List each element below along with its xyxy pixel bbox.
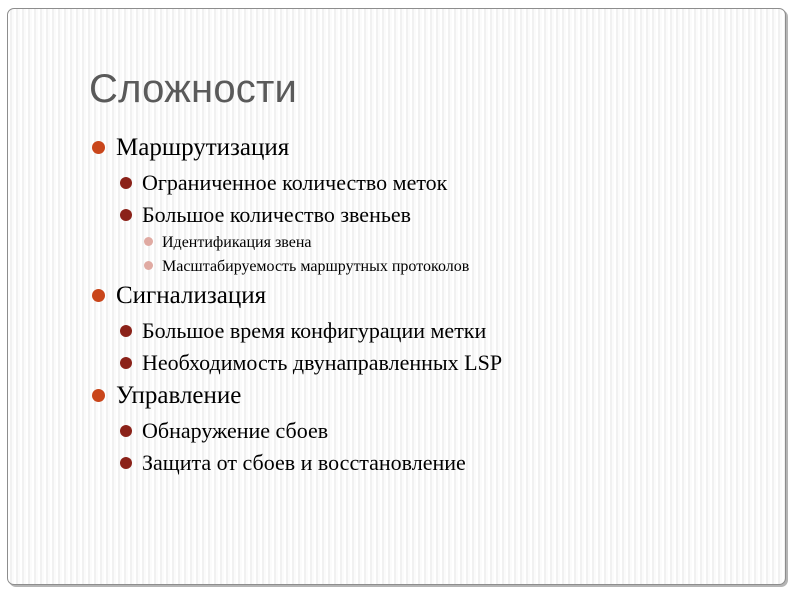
bullet-dot-icon (144, 237, 153, 246)
bullet-item-level2: Защита от сбоев и восстановление (8, 449, 785, 481)
bullet-dot-icon (92, 289, 105, 302)
bullet-dot-icon (144, 261, 153, 270)
bullet-dot-icon (120, 209, 132, 221)
bullet-item-level3: Масштабируемость маршрутных протоколов (8, 257, 785, 281)
bullet-item-label: Управление (116, 381, 241, 411)
bullet-item-level1: Сигнализация (8, 281, 785, 317)
page-title: Сложности (89, 66, 297, 112)
bullet-item-level2: Ограниченное количество меток (8, 169, 785, 201)
bullet-item-level1: Маршрутизация (8, 133, 785, 169)
bullet-dot-icon (120, 457, 132, 469)
bullet-item-level2: Большое количество звеньев (8, 201, 785, 233)
bullet-item-label: Обнаружение сбоев (142, 417, 328, 444)
bullet-item-level1: Управление (8, 381, 785, 417)
bullet-item-label: Большое время конфигурации метки (142, 317, 486, 344)
bullet-item-label: Сигнализация (116, 281, 266, 311)
bullet-item-label: Большое количество звеньев (142, 201, 411, 228)
bullet-item-level2: Необходимость двунаправленных LSP (8, 349, 785, 381)
bullet-item-level2: Обнаружение сбоев (8, 417, 785, 449)
bullet-dot-icon (120, 357, 132, 369)
slide-canvas: Сложности МаршрутизацияОграниченное коли… (0, 0, 800, 600)
bullet-item-label: Ограниченное количество меток (142, 169, 447, 196)
bullet-item-label: Масштабируемость маршрутных протоколов (162, 257, 469, 277)
slide-surface: Сложности МаршрутизацияОграниченное коли… (7, 8, 786, 585)
bullet-item-label: Идентификация звена (162, 233, 312, 253)
bullet-item-label: Необходимость двунаправленных LSP (142, 349, 502, 376)
bullet-dot-icon (92, 389, 105, 402)
bullet-item-level3: Идентификация звена (8, 233, 785, 257)
bullet-item-label: Маршрутизация (116, 133, 289, 163)
bullet-dot-icon (120, 177, 132, 189)
bullet-item-label: Защита от сбоев и восстановление (142, 449, 466, 476)
bullet-dot-icon (120, 425, 132, 437)
bullet-dot-icon (120, 325, 132, 337)
bullet-dot-icon (92, 141, 105, 154)
bullet-list: МаршрутизацияОграниченное количество мет… (8, 133, 785, 481)
bullet-item-level2: Большое время конфигурации метки (8, 317, 785, 349)
